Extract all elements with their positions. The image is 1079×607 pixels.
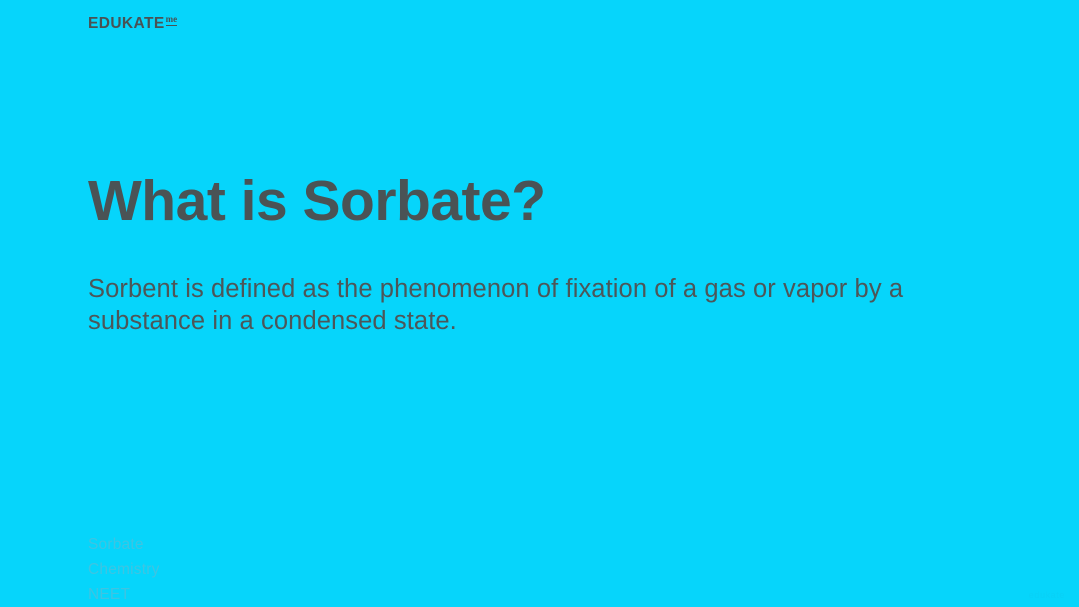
footer-tag-sorbate[interactable]: Sorbate (88, 532, 160, 557)
footer-tag-neet[interactable]: NEET (88, 582, 160, 607)
corner-watermark: edukate (1029, 590, 1065, 600)
footer-tag-list: Sorbate Chemistry NEET (88, 532, 160, 607)
brand-superscript: me (166, 15, 178, 26)
slide-canvas: EDUKATE me What is Sorbate? Sorbent is d… (0, 0, 1079, 607)
slide-title: What is Sorbate? (88, 172, 546, 232)
brand-wordmark: EDUKATE (88, 16, 165, 32)
slide-body-text: Sorbent is defined as the phenomenon of … (88, 273, 998, 338)
brand-logo[interactable]: EDUKATE me (88, 16, 177, 32)
footer-tag-chemistry[interactable]: Chemistry (88, 557, 160, 582)
